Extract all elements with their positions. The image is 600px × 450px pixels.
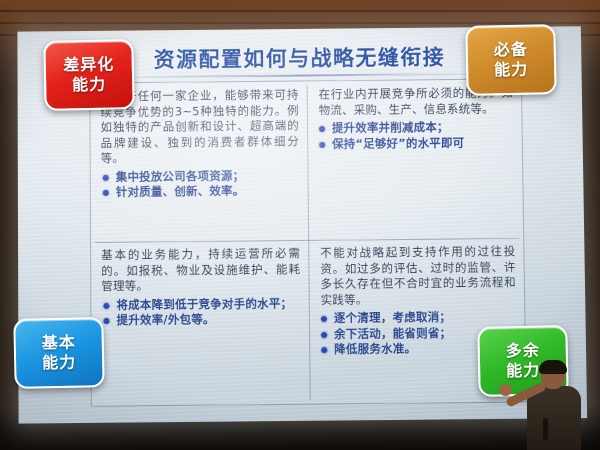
- quadrant-basic: 基本的业务能力，持续运营所必需的。如报税、物业及设施维护、能耗管理等。 将成本降…: [91, 240, 310, 405]
- badge-line-1: 差异化: [63, 54, 114, 75]
- quadrant-paragraph: 不能对战略起到支持作用的过往投资。如过多的评估、过时的监管、许多长久存在但不合时…: [318, 244, 516, 308]
- bullet-item: 针对质量、创新、效率。: [101, 183, 300, 200]
- badge-line-1: 多余: [506, 341, 540, 362]
- badge-differentiating-capability: 差异化 能力: [43, 39, 134, 111]
- badge-line-2: 能力: [72, 75, 106, 96]
- bullet-item: 逐个清理，考虑取消；: [319, 309, 517, 326]
- wall-panel-line: [0, 22, 600, 24]
- quadrant-bullet-list: 将成本降到低于竞争对手的水平； 提升效率/外包等。: [101, 296, 300, 329]
- presenter-hand: [499, 384, 512, 396]
- bullet-item: 保持“足够好”的水平即可: [317, 135, 514, 152]
- badge-basic-capability: 基本 能力: [13, 317, 104, 389]
- presenter-torso: [527, 386, 581, 450]
- presenter-silhouette: [523, 360, 585, 450]
- badge-line-2: 能力: [42, 353, 76, 374]
- badge-essential-capability: 必备 能力: [465, 24, 556, 96]
- quadrant-bullet-list: 提升效率并削减成本； 保持“足够好”的水平即可: [317, 119, 514, 152]
- wall-panel-line: [0, 10, 600, 12]
- badge-line-1: 基本: [42, 333, 76, 354]
- badge-line-1: 必备: [494, 40, 528, 61]
- bullet-item: 提升效率/外包等。: [101, 312, 300, 329]
- quadrant-paragraph: 基本的业务能力，持续运营所必需的。如报税、物业及设施维护、能耗管理等。: [101, 246, 300, 295]
- badge-line-2: 能力: [494, 60, 528, 81]
- quadrant-essential: 在行业内开展竞争所必须的能力。如物流、采购、生产、信息系统等。 提升效率并削减成…: [306, 79, 523, 240]
- quadrant-bullet-list: 集中投放公司各项资源； 针对质量、创新、效率。: [101, 168, 300, 201]
- quadrant-matrix: 有别于任何一家企业，能够带来可持续竞争优势的3~5种独特的能力。例如独特的产品创…: [89, 78, 526, 406]
- screenshot-stage: 资源配置如何与战略无缝衔接 有别于任何一家企业，能够带来可持续竞争优势的3~5种…: [0, 0, 600, 450]
- presenter-glasses: [542, 371, 564, 378]
- presenter-microphone: [543, 418, 548, 440]
